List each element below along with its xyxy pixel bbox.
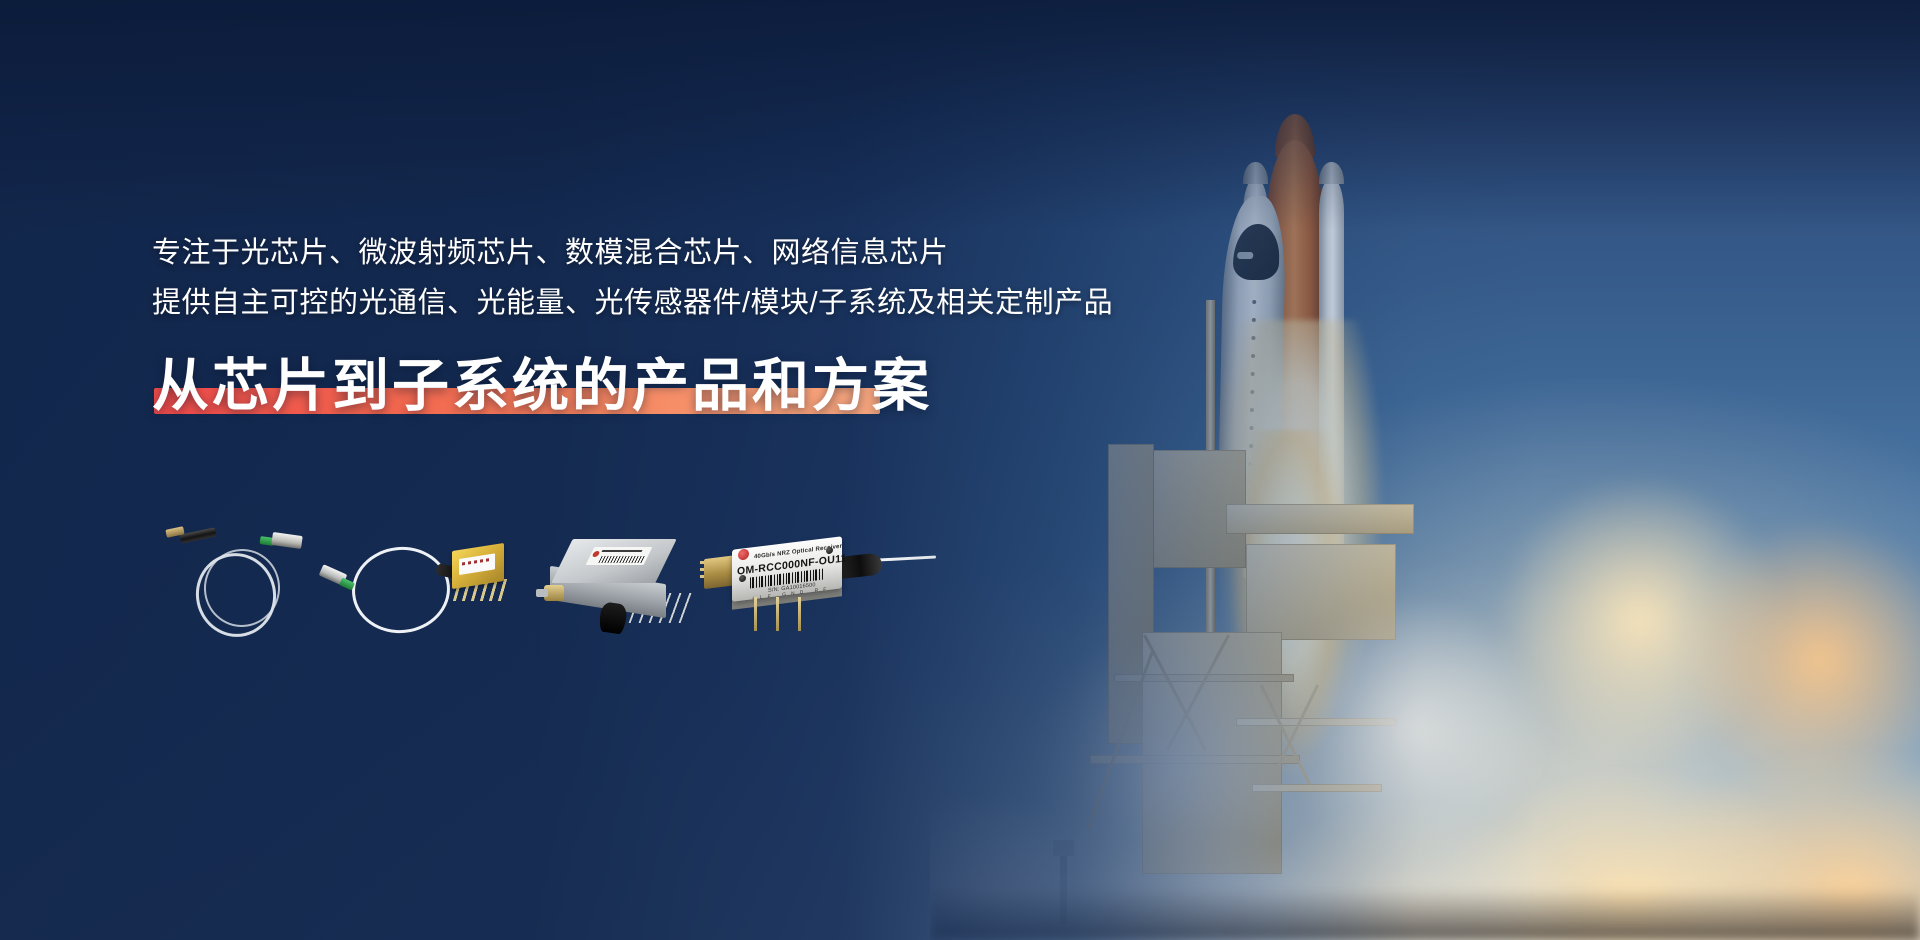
product-optical-receiver-module: 40Gb/s NRZ Optical Receiver OM-RCC000NF-… — [706, 527, 936, 647]
rf-module-sma-pin — [536, 589, 548, 597]
receiver-output-fiber — [878, 555, 936, 561]
headline-wrapper: 从芯片到子系统的产品和方案 — [152, 350, 932, 422]
top-gradient-overlay — [0, 0, 1920, 230]
pigtail-fiber-loop — [348, 542, 454, 638]
rf-module-fiber-boot — [598, 601, 628, 634]
rf-module-label-text — [602, 550, 643, 552]
fiber-connector-black — [179, 527, 216, 543]
banner-copy: 专注于光芯片、微波射频芯片、数模混合芯片、网络信息芯片 提供自主可控的光通信、光… — [152, 228, 1152, 422]
product-fiber-patch-cord — [164, 525, 324, 645]
subtitle-line-1: 专注于光芯片、微波射频芯片、数模混合芯片、网络信息芯片 — [152, 228, 1152, 278]
fiber-connector-sc — [271, 532, 303, 549]
hero-banner: 专注于光芯片、微波射频芯片、数模混合芯片、网络信息芯片 提供自主可控的光通信、光… — [0, 0, 1920, 940]
product-rf-module-box — [548, 535, 688, 645]
page-title: 从芯片到子系统的产品和方案 — [152, 350, 932, 422]
product-butterfly-laser-module — [318, 529, 508, 649]
rf-module-barcode — [598, 556, 645, 563]
product-showcase: 40Gb/s NRZ Optical Receiver OM-RCC000NF-… — [150, 525, 940, 655]
subtitle-line-2: 提供自主可控的光通信、光能量、光传感器件/模块/子系统及相关定制产品 — [152, 278, 1152, 328]
receiver-pin-legs — [752, 597, 816, 631]
